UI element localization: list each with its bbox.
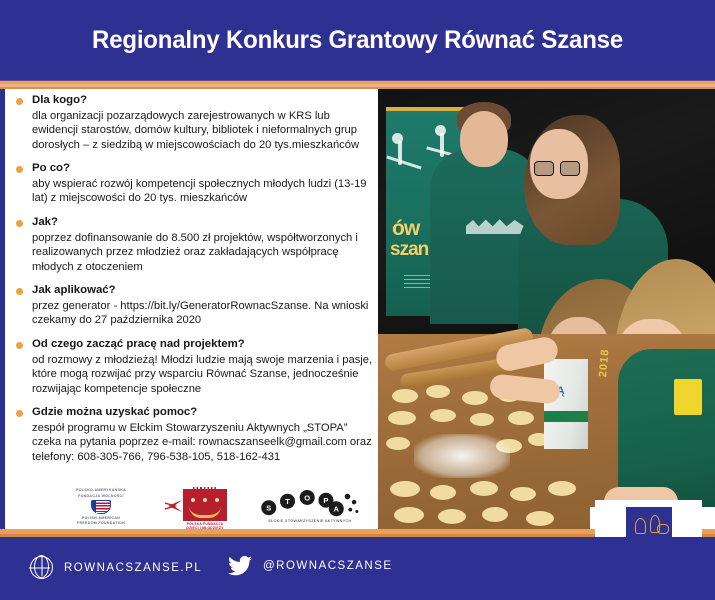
shield-icon bbox=[91, 500, 111, 514]
banner-word-2: szan bbox=[390, 239, 428, 261]
faq-answer: dla organizacji pozarządowych zarejestro… bbox=[32, 109, 378, 153]
faq-question: Po co? bbox=[32, 161, 378, 176]
svg-text:T: T bbox=[285, 497, 290, 506]
svg-text:O: O bbox=[304, 493, 310, 502]
divider-top bbox=[0, 80, 715, 89]
website-link[interactable]: ROWNACSZANSE.PL bbox=[30, 556, 202, 579]
stopa-caption: EŁCKIE STOWARZYSZENIE AKTYWNYCH bbox=[250, 519, 370, 523]
faq-answer: aby wspierać rozwój kompetencji społeczn… bbox=[32, 177, 378, 206]
bullet-icon bbox=[16, 98, 23, 105]
faq-answer: poprzez dofinansowanie do 8.500 zł proje… bbox=[32, 231, 378, 275]
list-item: Jak? poprzez dofinansowanie do 8.500 zł … bbox=[10, 215, 378, 274]
banner-word-1: ów bbox=[392, 217, 419, 241]
pfdim-caption-1: POLSKA FUNDACJA bbox=[187, 522, 224, 526]
faq-answer: od rozmowy z młodzieżą! Młodzi ludzie ma… bbox=[32, 353, 378, 397]
pafw-logo: POLSKO-AMERYKAŃSKA FUNDACJA WOLNOŚCI POL… bbox=[57, 487, 145, 527]
globe-icon bbox=[30, 556, 53, 579]
shirt-text: 2018 bbox=[597, 348, 611, 377]
twitter-link[interactable]: @ROWNACSZANSE bbox=[228, 556, 393, 576]
header-bar: Regionalny Konkurs Grantowy Równać Szans… bbox=[0, 0, 715, 80]
person-1-head bbox=[460, 111, 508, 167]
sponsor-badge bbox=[674, 379, 702, 415]
faq-question: Od czego zacząć pracę nad projektem? bbox=[32, 337, 378, 352]
twitter-label: @ROWNACSZANSE bbox=[263, 560, 393, 572]
faq-answer: przez generator - https://bit.ly/Generat… bbox=[32, 299, 378, 328]
list-item: Dla kogo? dla organizacji pozarządowych … bbox=[10, 93, 378, 152]
list-item: Od czego zacząć pracę nad projektem? od … bbox=[10, 337, 378, 396]
page-title: Regionalny Konkurs Grantowy Równać Szans… bbox=[92, 26, 623, 55]
list-item: Po co? aby wspierać rozwój kompetencji s… bbox=[10, 161, 378, 206]
bullet-icon bbox=[16, 288, 23, 295]
glasses-icon bbox=[534, 161, 578, 174]
list-item: Gdzie można uzyskać pomoc? zespół progra… bbox=[10, 405, 378, 464]
pfdim-logo: POLSKA FUNDACJA DZIECI I MŁODZIEŻY bbox=[165, 487, 243, 529]
milk-carton-band bbox=[544, 411, 588, 422]
faq-question: Gdzie można uzyskać pomoc? bbox=[32, 405, 378, 420]
partner-logos: POLSKO-AMERYKAŃSKA FUNDACJA WOLNOŚCI POL… bbox=[45, 487, 375, 529]
bullet-icon bbox=[16, 410, 23, 417]
faq-question: Dla kogo? bbox=[32, 93, 378, 108]
bullet-icon bbox=[16, 166, 23, 173]
bullet-icon bbox=[16, 342, 23, 349]
website-label: ROWNACSZANSE.PL bbox=[64, 562, 202, 574]
pfdim-dots bbox=[191, 498, 219, 502]
poster: Regionalny Konkurs Grantowy Równać Szans… bbox=[0, 0, 715, 600]
bullet-icon bbox=[16, 220, 23, 227]
svg-text:S: S bbox=[266, 504, 271, 513]
pafw-line-3: POLISH-AMERICAN bbox=[82, 516, 120, 520]
twitter-icon bbox=[228, 556, 252, 576]
stopa-logo: ST OP A EŁCKIE STOWARZYSZENIE AKTYWNYCH bbox=[250, 489, 370, 527]
pafw-line-4: FREEDOM FOUNDATION bbox=[77, 521, 125, 525]
milk-carton bbox=[544, 359, 588, 449]
flour-patch bbox=[414, 434, 510, 478]
svg-text:P: P bbox=[323, 496, 328, 505]
faq-list: Dla kogo? dla organizacji pozarządowych … bbox=[10, 93, 378, 483]
arrow-icon bbox=[165, 499, 183, 513]
faq-answer: zespół programu w Ełckim Stowarzyszeniu … bbox=[32, 421, 378, 465]
pafw-line-1: POLSKO-AMERYKAŃSKA bbox=[76, 488, 126, 492]
pafw-line-2: FUNDACJA WOLNOŚCI bbox=[78, 494, 124, 498]
photo-collage: ów szan bbox=[378, 89, 715, 529]
svg-text:A: A bbox=[334, 505, 340, 514]
pfdim-ticks bbox=[193, 487, 217, 491]
list-item: Jak aplikować? przez generator - https:/… bbox=[10, 283, 378, 328]
footer-bar: ROWNACSZANSE.PL @ROWNACSZANSE bbox=[0, 537, 715, 600]
faq-question: Jak? bbox=[32, 215, 378, 230]
faq-question: Jak aplikować? bbox=[32, 283, 378, 298]
gears-icon: ST OP A bbox=[250, 489, 370, 519]
